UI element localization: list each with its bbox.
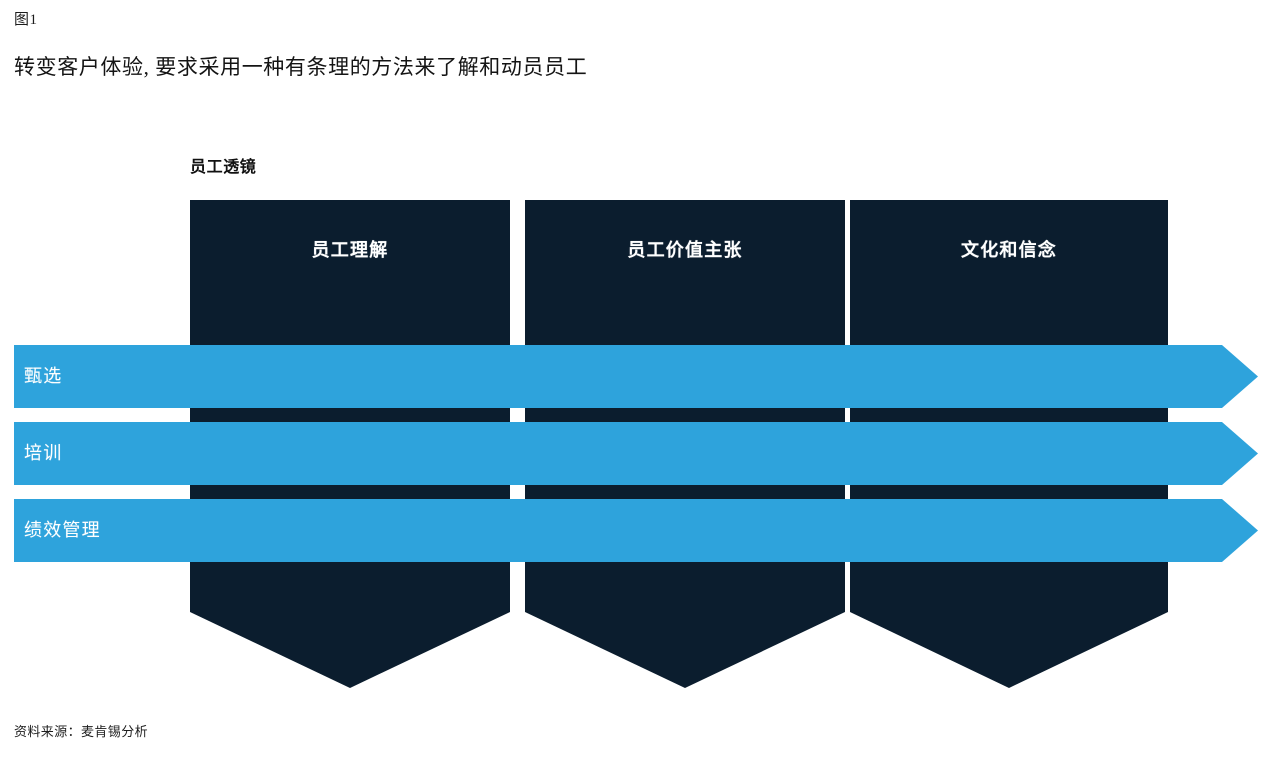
arrow-label-training: 培训 — [24, 441, 62, 465]
process-arrow-training — [14, 422, 1258, 485]
diagram-shapes — [0, 0, 1280, 766]
process-arrow-selection — [14, 345, 1258, 408]
arrow-label-performance-management: 绩效管理 — [24, 518, 101, 542]
column-title-understanding: 员工理解 — [190, 238, 510, 262]
column-title-value-proposition: 员工价值主张 — [525, 238, 845, 262]
process-arrows — [14, 345, 1258, 562]
framework-diagram: 员工理解 员工价值主张 文化和信念 甄选 培训 绩效管理 — [0, 0, 1280, 766]
figure-canvas: 图1 转变客户体验, 要求采用一种有条理的方法来了解和动员员工 员工透镜 员工理… — [0, 0, 1280, 766]
column-title-culture-belief: 文化和信念 — [850, 238, 1168, 262]
arrow-label-selection: 甄选 — [24, 364, 62, 388]
source-note: 资料来源：麦肯锡分析 — [14, 723, 148, 741]
process-arrow-performance-management — [14, 499, 1258, 562]
